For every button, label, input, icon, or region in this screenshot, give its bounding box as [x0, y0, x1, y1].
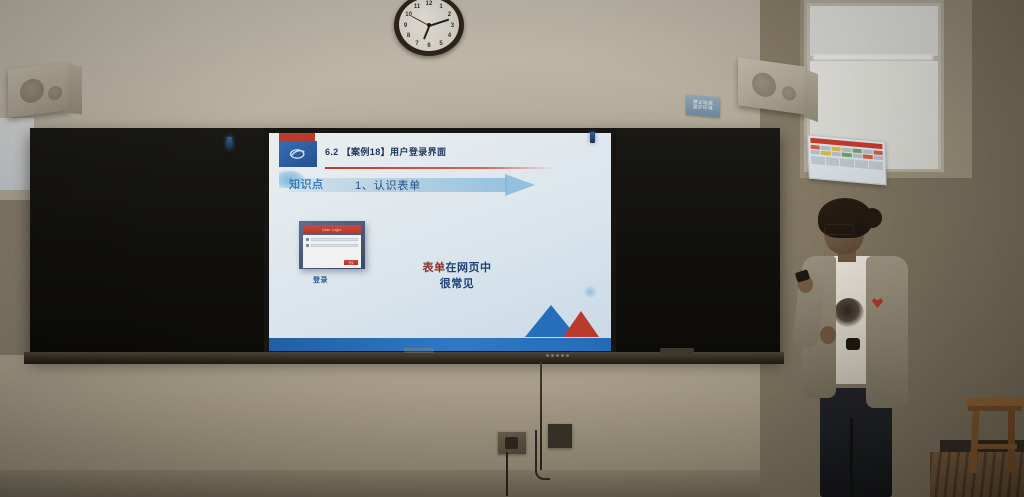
speaker-tweeter — [782, 85, 796, 101]
password-input — [311, 244, 358, 247]
knowledge-point-badge: 知识点 — [277, 173, 341, 195]
clock-number: 8 — [407, 33, 410, 39]
login-form-header: User Login — [303, 225, 361, 234]
blackboard-wing-left — [30, 128, 264, 356]
presentation-slide[interactable]: 6.2 【案例18】用户登录界面 知识点 1、认识表单 User Login — [269, 133, 611, 351]
clock-face: 12 1 2 3 4 5 6 7 8 9 10 11 — [399, 0, 459, 51]
wall-poster — [807, 134, 886, 185]
power-led-right — [590, 132, 595, 143]
display-bezel: 6.2 【案例18】用户登录界面 知识点 1、认识表单 User Login — [264, 128, 616, 356]
clock-number: 7 — [415, 41, 418, 47]
wall-lower-shadow — [0, 470, 820, 497]
login-submit-button: 登录 — [344, 260, 358, 265]
user-icon — [306, 238, 309, 241]
clock-number: 12 — [426, 1, 433, 7]
login-form-screenshot: User Login 登录 — [299, 221, 365, 269]
wall-sign: 禁止吸烟 爱护环境 — [686, 95, 720, 118]
clock-number: 4 — [448, 33, 451, 39]
slide-subtitle: 1、认识表单 — [355, 177, 421, 193]
clock-number: 1 — [439, 4, 442, 10]
login-caption: 登录 — [313, 275, 328, 285]
sparkle-decoration — [583, 285, 597, 299]
clock-number: 9 — [404, 23, 407, 29]
window-left — [0, 118, 34, 190]
instructor — [780, 198, 940, 497]
body-text-line2: 很常见 — [440, 278, 475, 290]
clock-number: 3 — [451, 23, 454, 29]
interactive-blackboard[interactable]: 6.2 【案例18】用户登录界面 知识点 1、认识表单 User Login — [30, 128, 780, 356]
window-glare — [813, 55, 933, 60]
display-brand-logo — [404, 348, 434, 353]
username-input — [311, 238, 358, 241]
window-pane-top — [810, 6, 938, 56]
speaker-cone — [20, 77, 44, 104]
slide-footer-bar — [269, 338, 611, 351]
display-control-buttons[interactable] — [546, 353, 590, 358]
instructor-hair-bun — [862, 208, 882, 228]
wall-outlet[interactable] — [498, 432, 526, 454]
slide-title-rule — [325, 167, 555, 169]
login-field-row — [306, 244, 358, 247]
display-port-panel[interactable] — [660, 348, 694, 356]
speaker-right — [738, 57, 806, 115]
instructor-cardigan-right — [866, 256, 908, 408]
wooden-stool — [962, 392, 1024, 482]
speaker-cone — [752, 71, 776, 98]
login-submit-label: 登录 — [348, 261, 353, 265]
speaker-side — [804, 69, 818, 122]
clock-number: 6 — [427, 43, 430, 49]
clock-number: 11 — [414, 4, 420, 10]
speaker-left — [8, 62, 70, 118]
login-field-row — [306, 238, 358, 241]
blackboard-wing-right — [616, 128, 780, 356]
wall-sign-line2: 爱护环境 — [693, 105, 713, 112]
speaker-tweeter — [48, 85, 62, 101]
login-form-body: 登录 — [303, 235, 361, 268]
slide-title: 6.2 【案例18】用户登录界面 — [325, 145, 446, 158]
clock-minute-hand — [429, 18, 450, 26]
body-text-highlight: 表单 — [423, 262, 446, 274]
instructor-hand-lower — [820, 326, 836, 344]
power-cord — [506, 452, 508, 496]
classroom-scene: 12 1 2 3 4 5 6 7 8 9 10 11 禁止吸烟 爱护环境 — [0, 0, 1024, 497]
pen-badge-icon — [279, 141, 317, 167]
clock-hour-hand — [423, 25, 430, 39]
clock-number: 5 — [439, 41, 442, 47]
knowledge-point-label: 知识点 — [289, 176, 324, 192]
power-led-left — [227, 137, 232, 148]
speaker-side — [68, 65, 82, 114]
wall-junction-box — [548, 424, 572, 448]
login-form-header-text: User Login — [322, 228, 341, 232]
lock-icon — [306, 244, 309, 247]
glasses-icon — [824, 224, 854, 235]
slide-body-text: 表单在网页中 很常见 — [387, 261, 527, 293]
wristwatch — [846, 338, 860, 350]
clock-center-pin — [427, 23, 431, 27]
body-text-rest: 在网页中 — [446, 262, 492, 274]
tshirt-graphic-print — [834, 298, 864, 328]
mountain-red-decoration — [563, 311, 599, 337]
instructor-leg-split — [850, 418, 853, 497]
